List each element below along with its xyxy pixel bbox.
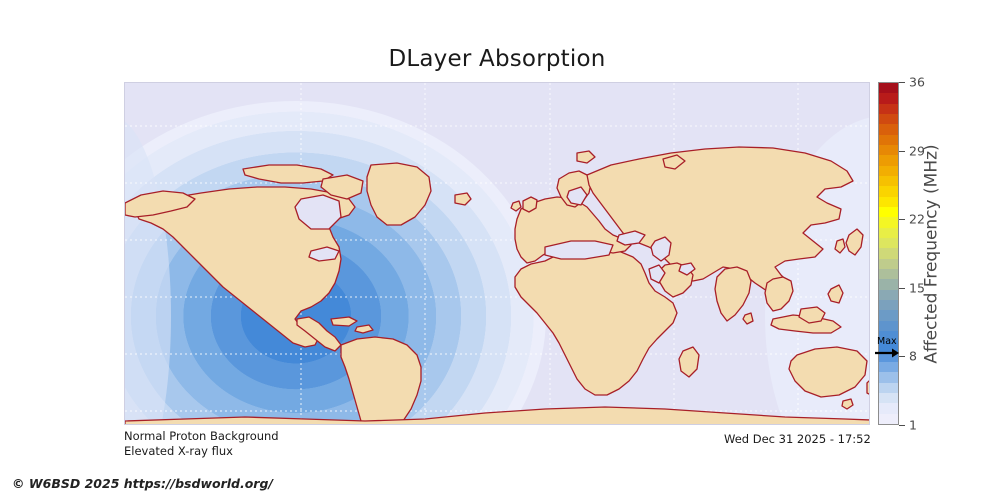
colorbar-band: [879, 104, 898, 114]
colorbar-tick-label: 8: [909, 349, 917, 364]
colorbar-band: [879, 176, 898, 186]
proton-status: Normal Proton Background: [124, 429, 279, 444]
colorbar-band: [879, 372, 898, 382]
colorbar-band: [879, 310, 898, 320]
colorbar-tick-mark: [899, 356, 905, 357]
colorbar-band: [879, 331, 898, 341]
colorbar-tick-mark: [899, 151, 905, 152]
colorbar-band: [879, 166, 898, 176]
colorbar-band: [879, 186, 898, 196]
colorbar-band: [879, 238, 898, 248]
timestamp: Wed Dec 31 2025 - 17:52: [724, 432, 871, 446]
colorbar-tick-label: 1: [909, 418, 917, 433]
xray-status: Elevated X-ray flux: [124, 444, 279, 459]
colorbar-band: [879, 145, 898, 155]
colorbar-band: [879, 217, 898, 227]
colorbar[interactable]: [878, 82, 899, 425]
colorbar-band: [879, 124, 898, 134]
colorbar-axis-label: Affected Frequency (MHz): [919, 82, 945, 425]
colorbar-tick-mark: [899, 82, 905, 83]
colorbar-tick-mark: [899, 425, 905, 426]
colorbar-band: [879, 290, 898, 300]
colorbar-band: [879, 228, 898, 238]
colorbar-band: [879, 197, 898, 207]
colorbar-band: [879, 259, 898, 269]
colorbar-band: [879, 300, 898, 310]
colorbar-axis-label-text: Affected Frequency (MHz): [922, 144, 942, 363]
colorbar-band: [879, 135, 898, 145]
colorbar-band: [879, 279, 898, 289]
colorbar-gradient: [878, 82, 899, 425]
colorbar-band: [879, 155, 898, 165]
colorbar-band: [879, 341, 898, 351]
colorbar-band: [879, 383, 898, 393]
colorbar-band: [879, 321, 898, 331]
colorbar-band: [879, 248, 898, 258]
colorbar-band: [879, 207, 898, 217]
colorbar-band: [879, 393, 898, 403]
footer-credit: © W6BSD 2025 https://bsdworld.org/: [12, 476, 273, 491]
colorbar-tick-mark: [899, 288, 905, 289]
page-title: DLayer Absorption: [0, 46, 994, 72]
colorbar-tick-mark: [899, 219, 905, 220]
map-plot-area[interactable]: [124, 82, 870, 425]
colorbar-band: [879, 414, 898, 424]
colorbar-band: [879, 269, 898, 279]
colorbar-band: [879, 352, 898, 362]
colorbar-band: [879, 403, 898, 413]
colorbar-band: [879, 362, 898, 372]
world-map: [125, 83, 870, 425]
status-annotations: Normal Proton Background Elevated X-ray …: [124, 429, 279, 459]
colorbar-band: [879, 83, 898, 93]
colorbar-band: [879, 114, 898, 124]
colorbar-band: [879, 93, 898, 103]
